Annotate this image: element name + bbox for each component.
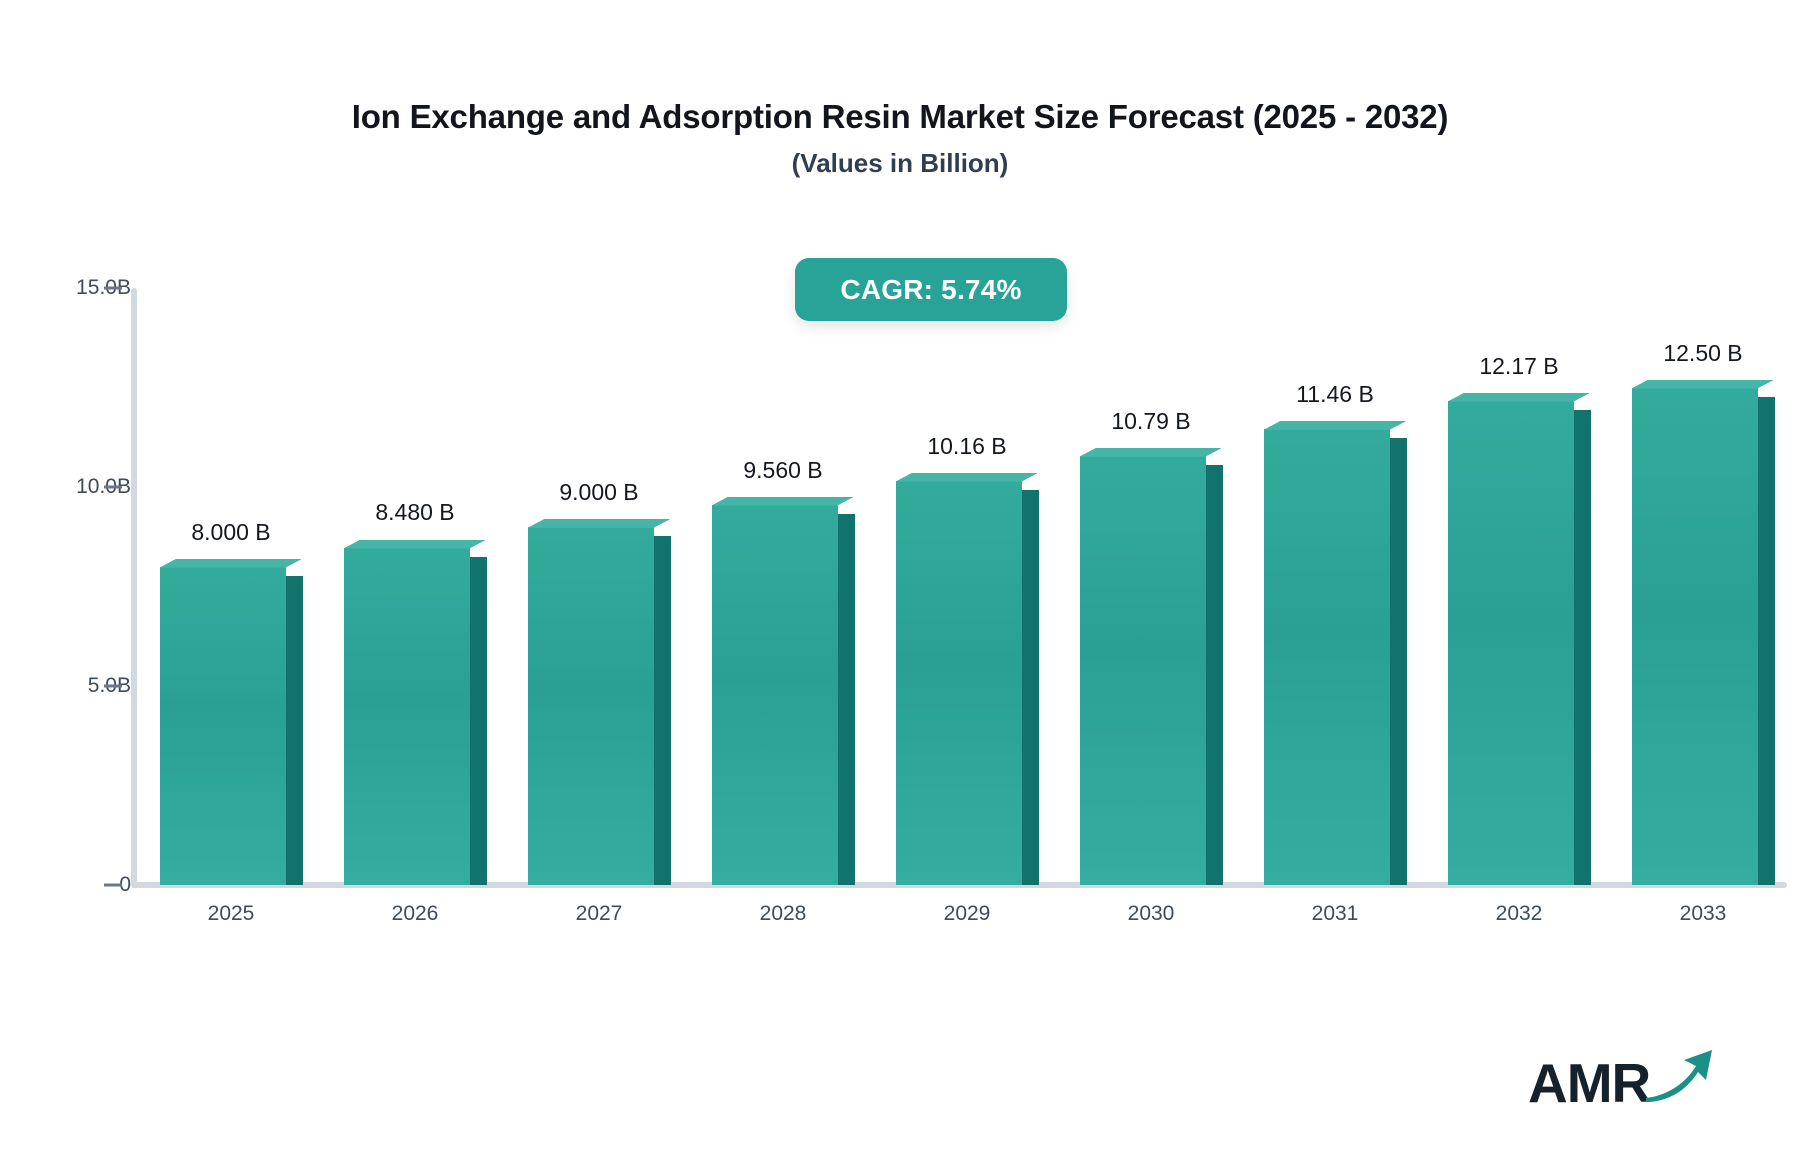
bar-side-face bbox=[286, 576, 303, 885]
bar-side-face bbox=[470, 557, 487, 886]
bar-top-face bbox=[344, 540, 487, 549]
bar-front-face bbox=[1448, 401, 1574, 885]
plot-area: 15.0B10.0B5.0B0 202520262027202820292030… bbox=[0, 0, 1800, 1156]
bar-value-label: 11.46 B bbox=[1225, 381, 1445, 408]
bar bbox=[1448, 401, 1591, 885]
bar-front-face bbox=[1632, 388, 1758, 886]
bar bbox=[1080, 456, 1223, 885]
x-axis-label: 2033 bbox=[1603, 902, 1800, 926]
bar-front-face bbox=[1264, 429, 1390, 885]
bar-value-label: 10.16 B bbox=[857, 433, 1077, 460]
bar-front-face bbox=[896, 481, 1022, 885]
bar-value-label: 10.79 B bbox=[1041, 408, 1261, 435]
amr-logo: AMR bbox=[1528, 1046, 1716, 1111]
bar-top-face bbox=[712, 497, 855, 506]
bar-side-face bbox=[1574, 410, 1591, 885]
bar-side-face bbox=[1758, 397, 1775, 886]
bar-value-label: 9.560 B bbox=[673, 457, 893, 484]
bar bbox=[160, 567, 303, 885]
bar-side-face bbox=[838, 514, 855, 885]
y-axis-tick-mark bbox=[104, 884, 122, 887]
x-axis-label: 2031 bbox=[1235, 902, 1435, 926]
x-axis-label: 2029 bbox=[867, 902, 1067, 926]
bar-front-face bbox=[1080, 456, 1206, 885]
x-axis-label: 2028 bbox=[683, 902, 883, 926]
bar-top-face bbox=[160, 559, 303, 568]
x-axis-label: 2030 bbox=[1051, 902, 1251, 926]
y-axis-tick-mark bbox=[104, 685, 122, 688]
logo-text: AMR bbox=[1528, 1056, 1650, 1111]
bar-top-face bbox=[528, 519, 671, 528]
bar bbox=[528, 527, 671, 885]
x-axis-label: 2027 bbox=[499, 902, 699, 926]
bar-value-label: 12.50 B bbox=[1593, 340, 1800, 367]
bar bbox=[896, 481, 1039, 885]
bar-top-face bbox=[1080, 448, 1223, 457]
bar bbox=[1264, 429, 1407, 885]
bar-side-face bbox=[1022, 490, 1039, 885]
bar-side-face bbox=[1206, 465, 1223, 885]
bar-side-face bbox=[1390, 438, 1407, 885]
x-axis-label: 2025 bbox=[131, 902, 331, 926]
bar-front-face bbox=[344, 548, 470, 886]
bar-top-face bbox=[1264, 421, 1407, 430]
bar-front-face bbox=[160, 567, 286, 885]
trending-up-arrow-icon bbox=[1644, 1046, 1716, 1109]
bar-top-face bbox=[1632, 380, 1775, 389]
bar-top-face bbox=[1448, 393, 1591, 402]
bar-top-face bbox=[896, 473, 1039, 482]
chart-canvas: Ion Exchange and Adsorption Resin Market… bbox=[0, 0, 1800, 1156]
bar bbox=[1632, 388, 1775, 886]
y-axis-tick-mark bbox=[104, 486, 122, 489]
bar-side-face bbox=[654, 536, 671, 885]
x-axis-label: 2032 bbox=[1419, 902, 1619, 926]
bar bbox=[712, 505, 855, 885]
bar-front-face bbox=[712, 505, 838, 885]
bar bbox=[344, 548, 487, 886]
bar-front-face bbox=[528, 527, 654, 885]
x-axis-label: 2026 bbox=[315, 902, 515, 926]
y-axis-tick-mark bbox=[104, 287, 122, 290]
